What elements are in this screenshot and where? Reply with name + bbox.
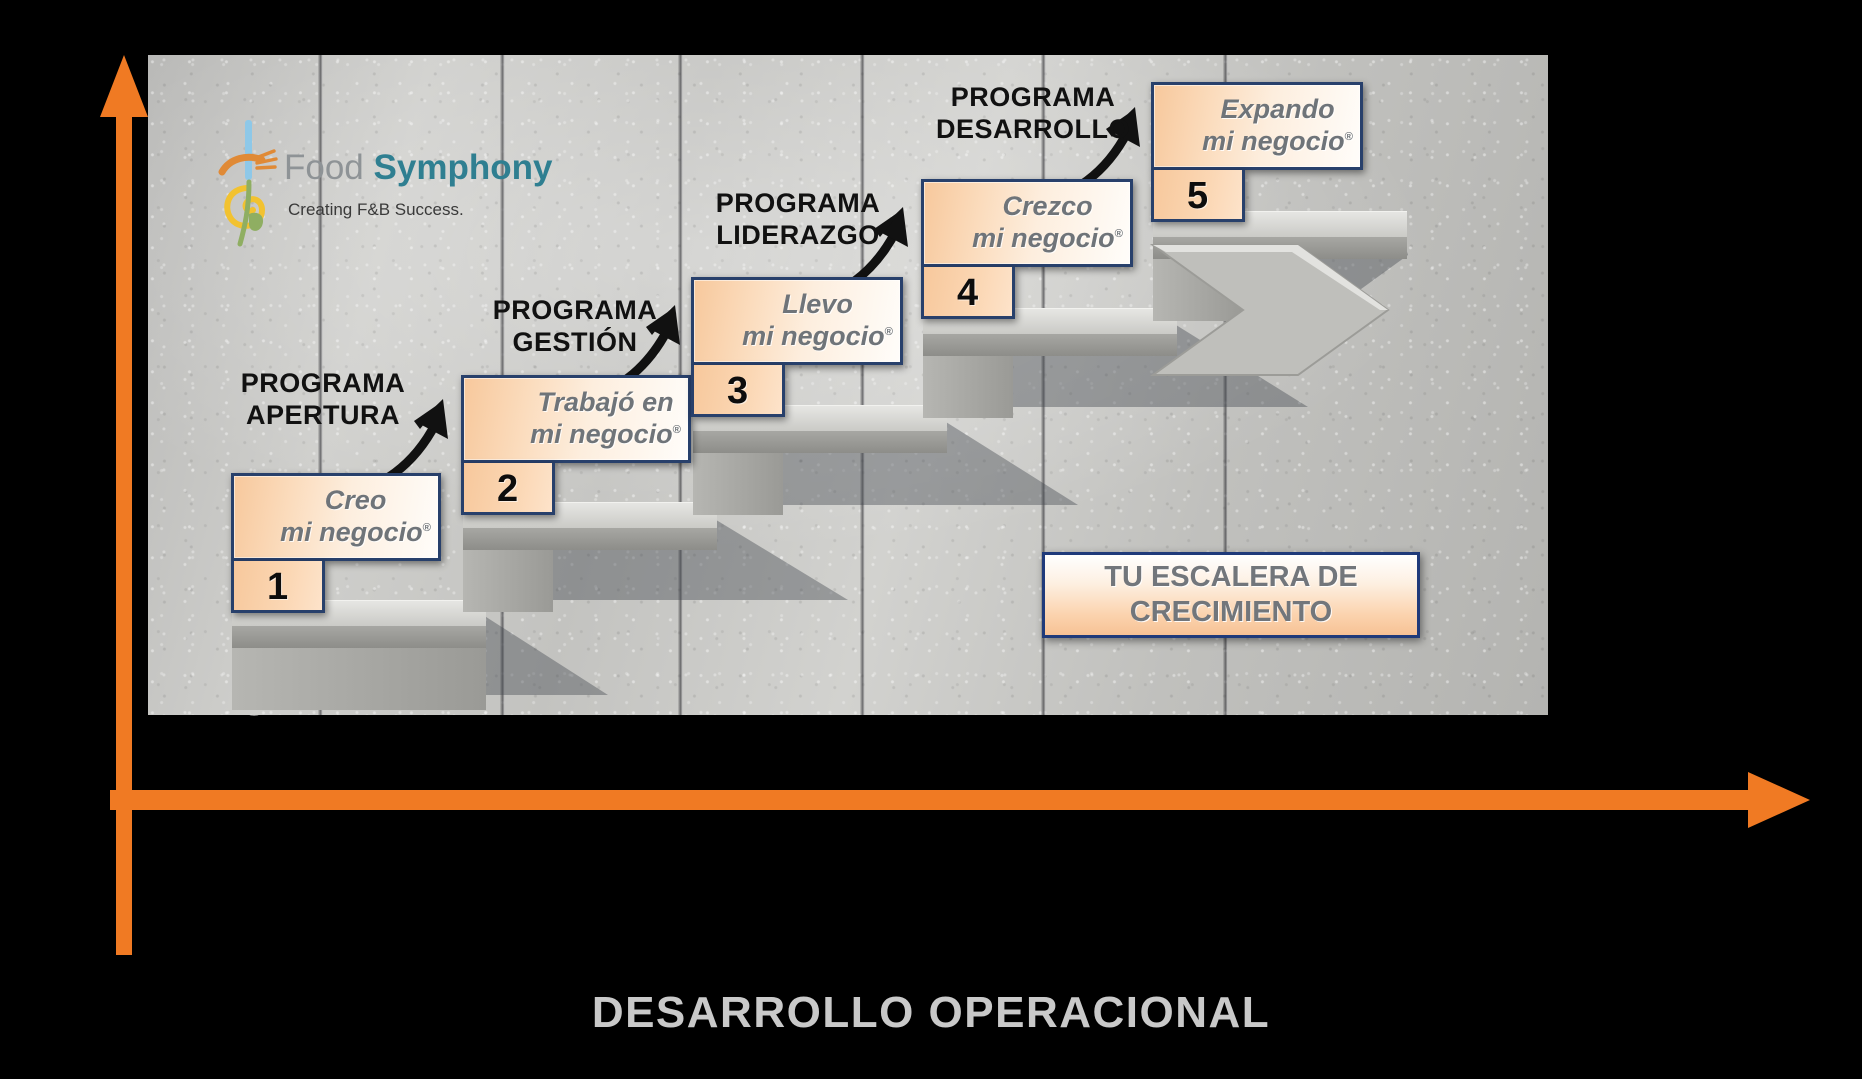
step-1-number: 1 [267,566,288,609]
fork-spiral-plant-icon [218,118,280,248]
step-3-line2: mi negocio [742,321,885,351]
x-axis-arrow [110,770,1810,830]
step-5-number: 5 [1187,175,1208,218]
program-caption-4-line2: DESARROLLO [908,114,1158,146]
step-1-line2: mi negocio [280,517,423,547]
logo-wordmark: Food Symphony [284,148,552,188]
step-3-mark: ® [885,326,893,338]
step-2-text: Trabajó en mi negocio® [530,387,681,451]
step-2-number: 2 [497,468,518,511]
step-4-line2: mi negocio [972,223,1115,253]
concrete-wall-panel: Food Symphony Creating F&B Success. [148,55,1548,715]
step-label-3[interactable]: Llevo mi negocio® 3 [691,277,903,417]
stair-riser-3 [693,453,783,515]
step-label-1[interactable]: Creo mi negocio® 1 [231,473,441,613]
concrete-arrow-head-icon [1148,205,1458,405]
x-axis-label: DESARROLLO OPERACIONAL [0,988,1862,1038]
step-5-line2: mi negocio [1202,126,1345,156]
step-1-line1: Creo [280,485,431,517]
step-5-mark: ® [1345,131,1353,143]
step-label-5[interactable]: Expando mi negocio® 5 [1151,82,1363,222]
step-3-text: Llevo mi negocio® [742,289,893,353]
program-caption-2-line1: PROGRAMA [460,295,690,327]
logo-tagline: Creating F&B Success. [288,200,464,220]
step-2-line2: mi negocio [530,419,673,449]
step-2-line1: Trabajó en [530,387,681,419]
program-caption-2: PROGRAMA GESTIÓN [460,295,690,359]
program-caption-4: PROGRAMA DESARROLLO [908,82,1158,146]
step-5-line1: Expando [1202,94,1353,126]
step-2-mark: ® [673,424,681,436]
step-4-line1: Crezco [972,191,1123,223]
logo-word-symphony: Symphony [374,148,553,187]
title-plate-text: TU ESCALERA DE CRECIMIENTO [1104,560,1358,631]
step-label-2[interactable]: Trabajó en mi negocio® 2 [461,375,691,515]
infographic-canvas: CONOCIMIENTO GERENCIAL DESARROLLO OPERAC… [0,0,1862,1079]
program-caption-3: PROGRAMA LIDERAZGO [678,188,918,252]
program-caption-3-line2: LIDERAZGO [678,220,918,252]
step-4-number: 4 [957,272,978,315]
program-caption-1-line1: PROGRAMA [208,368,438,400]
program-caption-2-line2: GESTIÓN [460,327,690,359]
step-3-line1: Llevo [742,289,893,321]
step-3-number: 3 [727,370,748,413]
step-1-mark: ® [423,522,431,534]
step-label-4[interactable]: Crezco mi negocio® 4 [921,179,1133,319]
step-4-text: Crezco mi negocio® [972,191,1123,255]
program-caption-4-line1: PROGRAMA [908,82,1158,114]
step-4-mark: ® [1115,228,1123,240]
logo-word-food: Food [284,148,364,187]
program-caption-3-line1: PROGRAMA [678,188,918,220]
stair-riser-1 [232,648,486,710]
step-5-text: Expando mi negocio® [1202,94,1353,158]
title-plate: TU ESCALERA DE CRECIMIENTO [1042,552,1420,638]
title-line-1: TU ESCALERA DE [1104,560,1358,595]
title-line-2: CRECIMIENTO [1104,595,1358,630]
program-caption-1: PROGRAMA APERTURA [208,368,438,432]
brand-logo: Food Symphony Creating F&B Success. [218,118,518,268]
stair-riser-2 [463,550,553,612]
program-caption-1-line2: APERTURA [208,400,438,432]
step-1-text: Creo mi negocio® [280,485,431,549]
stair-riser-4 [923,356,1013,418]
